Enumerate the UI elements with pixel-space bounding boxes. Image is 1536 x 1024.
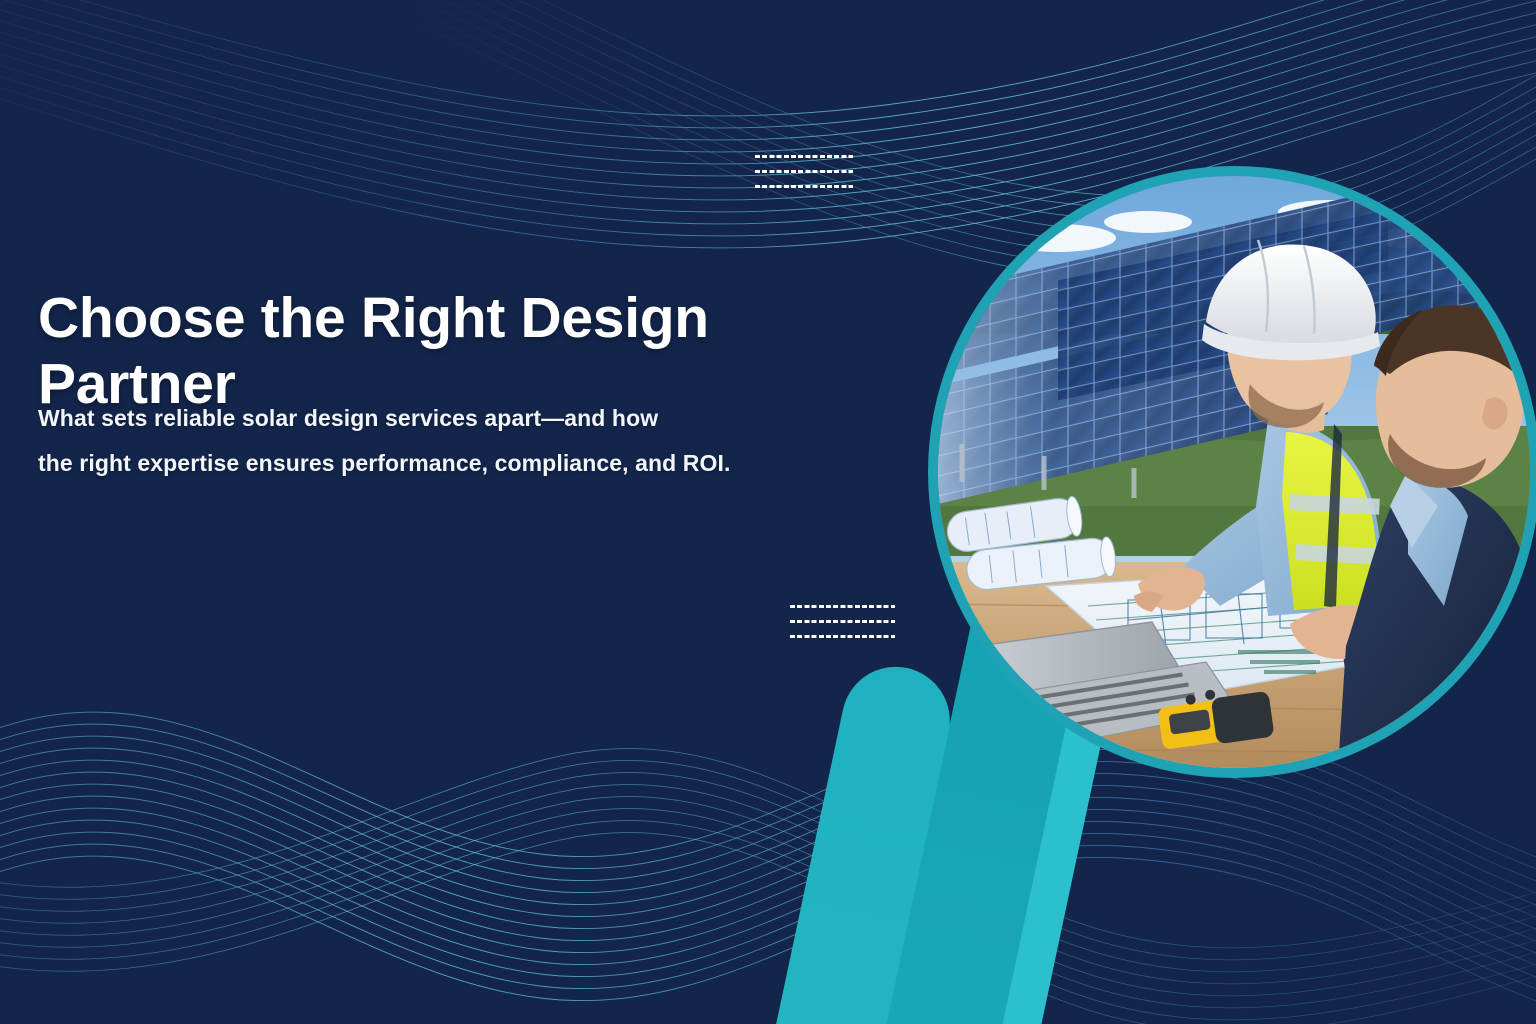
dash-row (790, 620, 895, 623)
dash-row (755, 155, 853, 158)
subtitle-line-2: the right expertise ensures performance,… (38, 441, 918, 486)
page-subtitle: What sets reliable solar design services… (38, 396, 918, 486)
dash-row (755, 185, 853, 188)
dashed-lines-bottom (790, 605, 895, 638)
dash-row (790, 635, 895, 638)
dash-row (790, 605, 895, 608)
circular-hero-photo (938, 176, 1530, 768)
teal-bar-left (757, 657, 960, 1024)
dash-row (755, 170, 853, 173)
dashed-lines-top (755, 155, 853, 188)
slide-canvas: Choose the Right Design Partner What set… (0, 0, 1536, 1024)
subtitle-line-1: What sets reliable solar design services… (38, 396, 918, 441)
